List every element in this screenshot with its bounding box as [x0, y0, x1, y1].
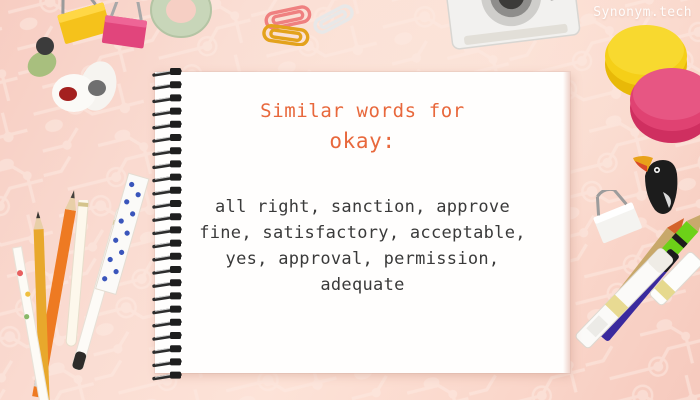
- washi-tape-roll: [146, 0, 216, 44]
- page-title-word: okay:: [155, 129, 570, 153]
- eraser-pair: [42, 60, 120, 118]
- synonym-line: fine, satisfactory, acceptable,: [155, 220, 570, 246]
- pink-macaron: [624, 62, 700, 148]
- page-title-prefix: Similar words for: [155, 100, 570, 122]
- synonym-line: yes, approval, permission,: [155, 246, 570, 272]
- yellow-binder-clip: [48, 0, 122, 50]
- purple-pen: [590, 238, 700, 368]
- camera: [438, 0, 588, 50]
- white-markers: [572, 246, 700, 386]
- synonym-list: all right, sanction, approve fine, satis…: [155, 194, 570, 298]
- site-watermark: Synonym.tech: [593, 5, 692, 20]
- green-eraser: [18, 34, 66, 82]
- synonym-line: adequate: [155, 272, 570, 298]
- desk-scene: Similar words for okay: all right, sanct…: [0, 0, 700, 400]
- yellow-macaron: [600, 20, 692, 102]
- polka-dot-strip: [92, 168, 154, 298]
- white-binder-clip: [585, 190, 653, 246]
- synonym-line: all right, sanction, approve: [155, 194, 570, 220]
- pink-binder-clip: [94, 2, 158, 54]
- green-crayon: [612, 210, 700, 330]
- toucan-sticker: [633, 148, 687, 220]
- paper-clips: [258, 4, 358, 46]
- orange-pencils: [0, 190, 150, 400]
- orange-crayon: [592, 218, 700, 328]
- notepad-page: Similar words for okay: all right, sanct…: [155, 72, 570, 373]
